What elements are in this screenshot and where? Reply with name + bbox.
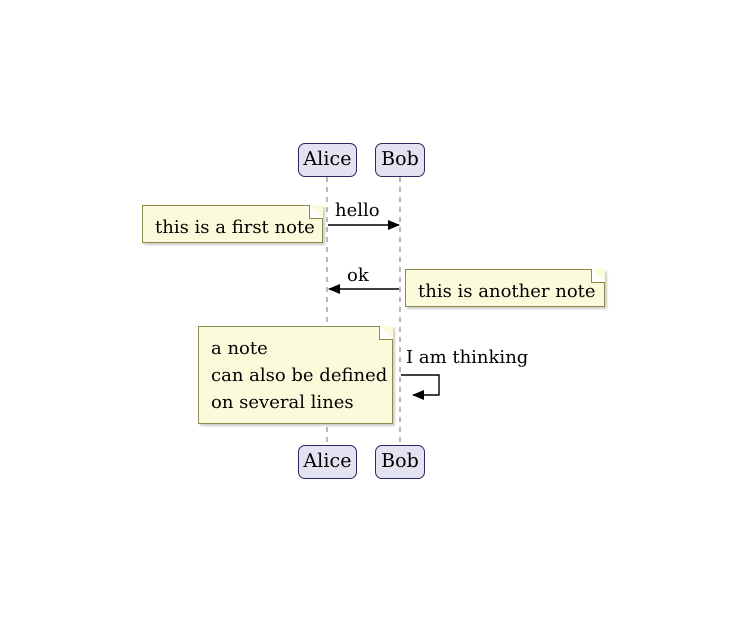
participant-alice-label: Alice	[303, 150, 351, 171]
participant-bob-label-bottom: Bob	[381, 452, 419, 473]
sequence-diagram-canvas: Alice Bob Alice Bob hello ok I am thinki…	[0, 0, 746, 620]
note-line: this is a first note	[155, 214, 308, 241]
note-fold-triangle-icon	[310, 205, 323, 218]
message-label-i-am-thinking: I am thinking	[406, 349, 528, 367]
note-fold-triangle-icon	[380, 326, 393, 339]
participant-alice-bottom[interactable]: Alice	[298, 445, 357, 479]
participant-bob-bottom[interactable]: Bob	[375, 445, 425, 479]
diagram-vector-layer	[0, 0, 746, 620]
participant-bob-label: Bob	[381, 150, 419, 171]
note-line: a note	[211, 335, 378, 362]
message-arrow-self-bob	[401, 375, 439, 395]
participant-alice-label-bottom: Alice	[303, 452, 351, 473]
note-this-is-a-first-note: this is a first note	[142, 205, 323, 243]
note-line: this is another note	[418, 278, 590, 305]
participant-bob-top[interactable]: Bob	[375, 143, 425, 177]
message-label-ok: ok	[347, 267, 369, 285]
note-fold-triangle-icon	[592, 269, 605, 282]
note-line: can also be defined	[211, 362, 378, 389]
note-multiline: a note can also be defined on several li…	[198, 326, 393, 424]
participant-alice-top[interactable]: Alice	[298, 143, 357, 177]
note-line: on several lines	[211, 389, 378, 416]
note-this-is-another-note: this is another note	[405, 269, 605, 307]
message-label-hello: hello	[335, 202, 380, 220]
